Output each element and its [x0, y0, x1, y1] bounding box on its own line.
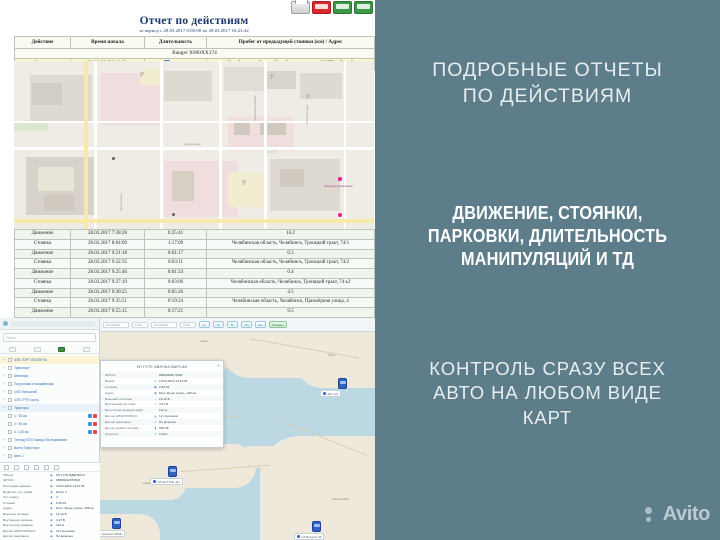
search-input[interactable]: Поиск	[3, 333, 96, 342]
tree-item[interactable]: +Транспорт	[0, 364, 99, 372]
marker-dot-icon	[323, 392, 326, 395]
info-row: Последние данные◆19.03.2018 14:13:30	[0, 483, 100, 489]
info-value: 112 м	[56, 523, 97, 527]
tree-item-label: Техпод ООО Завод Обслуживание	[14, 438, 67, 442]
parking-marker-icon: P	[242, 179, 246, 187]
city-map-image[interactable]: P P P P Городская поликлиника улица Ельк…	[14, 61, 374, 229]
cell-detail: Челябинская область, Челябинск, Троицкий…	[207, 278, 375, 288]
info-key: Последние данные	[3, 484, 47, 488]
date-from-field[interactable]: 19.03.2018	[103, 322, 129, 328]
column-header-action: Действие	[15, 37, 71, 49]
map-toolbar[interactable]: 19.03.2018 14:10 19.03.2018 23:59 1ч 3ч …	[100, 318, 375, 332]
promo-headline-1: ПОДРОБНЫЕ ОТЧЕТЫ ПО ДЕЙСТВИЯМ	[375, 58, 720, 109]
popup-value: Респ.Крым, Керчь, 108 км	[159, 391, 219, 395]
table-row[interactable]: Движение28.03.2017 9:25:460:01:330.4	[15, 269, 375, 279]
info-row: Датчик зажигания◆Не включен	[0, 534, 100, 540]
info-value: 86880022870002	[56, 478, 97, 482]
poi-marker-icon[interactable]	[112, 157, 115, 160]
popup-value: 680.28	[159, 426, 219, 430]
cell-start: 28.03.2017 9:22:35	[71, 259, 145, 269]
info-icon: ◆	[49, 506, 54, 510]
info-value: 12 спутников	[56, 529, 97, 533]
checkbox[interactable]	[8, 438, 12, 442]
chevron-right-icon[interactable]: +	[2, 454, 6, 458]
info-key: Объект	[3, 473, 47, 477]
report-table-body: Движение28.03.2017 7:38:280:25:4116.2Сто…	[14, 229, 375, 318]
status-badge-blue[interactable]	[88, 414, 92, 418]
table-row[interactable]: Движение28.03.2017 9:30:250:05:264.5	[15, 288, 375, 298]
vehicle-marker-icon[interactable]	[338, 378, 347, 389]
cell-detail: 9.5	[207, 308, 375, 318]
cell-duration: 0:01:17	[145, 249, 207, 259]
chevron-right-icon[interactable]: +	[2, 382, 6, 386]
info-key: Гос. номер	[3, 495, 47, 499]
checkbox[interactable]	[8, 374, 12, 378]
popup-key: Высота над уровнем моря	[105, 408, 152, 412]
cell-duration: 0:03:06	[145, 278, 207, 288]
range-12h-button[interactable]: 12ч	[241, 321, 252, 328]
info-icon: ◆	[49, 529, 54, 533]
popup-row-icon: ⌁	[152, 402, 159, 406]
chevron-right-icon[interactable]: +	[2, 374, 6, 378]
cell-duration: 1:17:09	[145, 239, 207, 249]
report-subtitle: за период с 28.03.2017 0:00:00 по 28.03.…	[14, 27, 374, 33]
tree-item[interactable]: +Техпод ООО Завод Обслуживание	[0, 436, 99, 444]
parking-marker-icon: P	[306, 93, 310, 101]
info-key: Внешнее питание	[3, 512, 47, 516]
cell-duration: 0:01:33	[145, 269, 207, 279]
vehicle-marker-icon[interactable]	[112, 518, 121, 529]
info-row: Высота над уровнем◆112 м	[0, 522, 100, 528]
cell-action: Движение	[15, 269, 71, 279]
logo-icon	[3, 321, 8, 326]
cell-start: 28.03.2017 9:35:51	[71, 298, 145, 308]
report-title: Отчет по действиям	[14, 0, 374, 27]
tree-item[interactable]: 2 / 40 км	[0, 420, 99, 428]
info-row: Гос. номер◆4	[0, 494, 100, 500]
cell-action: Движение	[15, 308, 71, 318]
popup-row-icon: »	[152, 432, 159, 436]
info-key: Высота над уровнем	[3, 523, 47, 527]
tree-item-label: Тракторы	[14, 406, 29, 410]
vehicle-marker-label[interactable]: СЛ КН ГУТЕ -АН	[150, 478, 183, 485]
checkbox[interactable]	[8, 430, 12, 434]
info-icon: ◆	[49, 534, 54, 538]
info-icon: ◆	[49, 495, 54, 499]
cell-action: Стоянка	[15, 259, 71, 269]
tree-item[interactable]: 1 / 10 км	[0, 412, 99, 420]
info-row: Стоянка◆0:30:01	[0, 500, 100, 506]
cell-action: Стоянка	[15, 278, 71, 288]
tree-item[interactable]: +Вахта Транспорт	[0, 444, 99, 452]
info-key: Датчик GPS/ГЛОНАСС	[3, 529, 47, 533]
table-row[interactable]: Движение28.03.2017 9:21:180:01:170.3	[15, 249, 375, 259]
tree-item[interactable]: +ЧЛБ ГРУЗ часть	[0, 396, 99, 404]
info-value: Driver 1	[56, 490, 97, 494]
popup-value: 19.03.2018 14:13:30	[159, 379, 219, 383]
range-24h-button[interactable]: 24ч	[255, 321, 266, 328]
object-info-panel: Объект◆КН ГУТЕ ВДЕНКА Б.GPS ID◆868800228…	[0, 462, 100, 540]
chevron-right-icon[interactable]: +	[2, 390, 6, 394]
tree-item[interactable]: 3 / 115 км	[0, 428, 99, 436]
range-6h-button[interactable]: 6ч	[227, 321, 238, 328]
chevron-right-icon[interactable]: +	[2, 406, 6, 410]
street-label: Свердловский проспект	[254, 95, 257, 121]
info-value: 12.12 В	[56, 512, 97, 516]
cell-action: Движение	[15, 230, 71, 240]
checkbox[interactable]	[8, 382, 12, 386]
popup-value: 112 м	[159, 408, 219, 412]
info-key: Водитель, кто управ.	[3, 490, 47, 494]
tree-item-label: 2 / 40 км	[14, 422, 27, 426]
marker-dot-icon	[297, 535, 300, 538]
cell-detail: 0.4	[207, 269, 375, 279]
info-icon: ◆	[49, 473, 54, 477]
gear-icon[interactable]	[44, 465, 49, 470]
tree-item-label: ООО Автоснаб	[14, 390, 37, 394]
chevron-right-icon[interactable]: +	[2, 366, 6, 370]
promo-headline-3-line-1: КОНТРОЛЬ СРАЗУ ВСЕХ	[375, 357, 720, 381]
marker-dot-icon	[153, 480, 156, 483]
avito-watermark: Avito	[645, 503, 710, 526]
cell-duration: 0:17:21	[145, 308, 207, 318]
popup-row-icon: ▮	[152, 426, 159, 430]
tree-item-label: Погрузчики и экскаваторы	[14, 382, 54, 386]
route-icon[interactable]	[4, 465, 9, 470]
town-label: Керчь	[328, 354, 335, 357]
avito-logo-icon	[645, 506, 659, 524]
info-value: 19.03.2018 14:13:30	[56, 484, 97, 488]
tree-item[interactable]: +Погрузчики и экскаваторы	[0, 380, 99, 388]
sidebar-topbar	[0, 318, 99, 330]
stop-icon[interactable]	[14, 465, 19, 470]
tree-item-label: ЧЛБ ТОРГ ОБЪЕКТЫ	[14, 358, 47, 362]
sidebar-title-bar	[11, 321, 96, 327]
tree-item[interactable]: +ООО Автоснаб	[0, 388, 99, 396]
cell-start: 28.03.2017 9:21:18	[71, 249, 145, 259]
pencil-icon[interactable]	[54, 465, 59, 470]
popup-key: Внутренний источник	[105, 402, 152, 406]
popup-key: Датчик зажигания	[105, 420, 152, 424]
info-row: Водитель, кто управ.◆Driver 1	[0, 489, 100, 495]
tree-item-label: ЧЛБ ГРУЗ часть	[14, 398, 39, 402]
popup-key: Внешний источник	[105, 397, 152, 401]
popup-row: Скорость»0 км/ч	[101, 431, 223, 437]
tree-item[interactable]: +Авто 1	[0, 452, 99, 460]
cell-start: 28.03.2017 9:25:46	[71, 269, 145, 279]
popup-key: Скорость	[105, 432, 152, 436]
popup-row-icon: ◉	[152, 391, 159, 395]
info-key: Датчик зажигания	[3, 534, 47, 538]
popup-value: 0:30:01	[159, 385, 219, 389]
vehicle-group-row: Ranger X000XX174	[15, 49, 375, 59]
info-key: Стоянка	[3, 501, 47, 505]
town-label: Анапа	[200, 340, 207, 343]
vehicle-marker-label[interactable]: Аурелия 01018	[100, 530, 125, 537]
tree-item[interactable]: +Автопарк	[0, 372, 99, 380]
info-value: КН ГУТЕ ВДЕНКА Б.	[56, 473, 97, 477]
popup-key: Адрес	[105, 391, 152, 395]
chevron-right-icon[interactable]: +	[2, 398, 6, 402]
cell-start: 28.03.2017 9:27:19	[71, 278, 145, 288]
popup-value: 12 спутников	[159, 414, 219, 418]
info-key: GPS ID	[3, 478, 47, 482]
tree-item[interactable]: +ЧЛБ ТОРГ ОБЪЕКТЫ	[0, 356, 99, 364]
info-row: Внутреннее питание◆4.07 В	[0, 517, 100, 523]
table-header-row: Действие Время начала Длительность Пробе…	[15, 37, 375, 49]
table-row[interactable]: Стоянка28.03.2017 9:22:350:03:11Челябинс…	[15, 259, 375, 269]
table-row[interactable]: Стоянка28.03.2017 9:35:510:19:24Челябинс…	[15, 298, 375, 308]
status-badge-red[interactable]	[93, 422, 97, 426]
sidebar-tab-objects[interactable]	[9, 347, 16, 352]
tree-item-badges[interactable]	[88, 430, 99, 434]
popup-value: 4.07 В	[159, 402, 219, 406]
promo-headline-3-line-2: АВТО НА ЛЮБОМ ВИДЕ	[375, 381, 720, 405]
poi-label: Городская поликлиника	[324, 185, 352, 188]
poi-marker-icon[interactable]	[338, 177, 342, 181]
promo-headline-3: КОНТРОЛЬ СРАЗУ ВСЕХ АВТО НА ЛЮБОМ ВИДЕ К…	[375, 357, 720, 430]
popup-key: Стоянка	[105, 385, 152, 389]
info-value: Не включен	[56, 534, 97, 538]
promo-panel: ПОДРОБНЫЕ ОТЧЕТЫ ПО ДЕЙСТВИЯМ ДВИЖЕНИЕ, …	[375, 0, 720, 540]
popup-key: GPS ID	[105, 373, 152, 377]
info-key: Внутреннее питание	[3, 518, 47, 522]
tree-item-label: Авто 1	[14, 454, 24, 458]
popup-value: 12.12 В	[159, 397, 219, 401]
vehicle-marker-label[interactable]: СЛ Басурин 43	[294, 533, 324, 540]
sidebar-tab-online[interactable]	[58, 347, 65, 352]
show-track-button[interactable]: Показать	[269, 321, 287, 328]
info-icon: ◆	[49, 478, 54, 482]
tree-item[interactable]: +Тракторы	[0, 404, 99, 412]
app-map-canvas[interactable]: Симферополь Керчь Новороссийск Анапа 19.…	[100, 318, 375, 540]
poi-marker-icon[interactable]	[338, 213, 342, 217]
checkbox[interactable]	[8, 398, 12, 402]
info-value: 4.07 В	[56, 518, 97, 522]
street-label: Российская улица	[306, 105, 309, 125]
popup-row-icon: ⦿	[152, 414, 159, 419]
table-row[interactable]: Стоянка28.03.2017 9:27:190:03:06Челябинс…	[15, 278, 375, 288]
street-label: улица Елькина	[184, 143, 201, 146]
popup-row-icon: ◼	[152, 385, 159, 389]
status-badge-blue[interactable]	[88, 422, 92, 426]
checkbox[interactable]	[8, 406, 12, 410]
info-icon: ◆	[49, 518, 54, 522]
vehicle-name: Ranger X000XX174	[15, 49, 375, 59]
tree-item-label: 1 / 10 км	[14, 414, 27, 418]
chart-icon[interactable]	[34, 465, 39, 470]
checkbox[interactable]	[8, 390, 12, 394]
table-row[interactable]: Движение28.03.2017 9:55:150:17:219.5	[15, 308, 375, 318]
cell-detail: 0.3	[207, 249, 375, 259]
time-to-field[interactable]: 23:59	[180, 322, 196, 328]
popup-value: 0 км/ч	[159, 432, 219, 436]
range-3h-button[interactable]: 3ч	[213, 321, 224, 328]
report-table-body-wrap: Движение28.03.2017 7:38:280:25:4116.2Сто…	[14, 229, 374, 318]
info-value: 4	[56, 495, 97, 499]
info-value: Респ. Крым, Керчь, 108 км	[56, 506, 97, 510]
status-badge-red[interactable]	[93, 414, 97, 418]
promo-headline-3-line-3: КАРТ	[375, 406, 720, 430]
tree-item-label: Автопарк	[14, 374, 28, 378]
info-icon: ◆	[49, 501, 54, 505]
poi-marker-icon[interactable]	[172, 213, 175, 216]
popup-row-icon: ⌁	[152, 397, 159, 401]
tracking-app-window: Поиск +ЧЛБ ТОРГ ОБЪЕКТЫ+Транспорт+Автопа…	[0, 318, 375, 540]
object-detail-popup[interactable]: ✕ КН ГУТЕ АВЕНКА ВАРСАН GPS ID868002287-…	[100, 360, 224, 448]
cell-action: Движение	[15, 249, 71, 259]
table-row[interactable]: Стоянка28.03.2017 8:04:091:17:09Челябинс…	[15, 239, 375, 249]
date-to-field[interactable]: 19.03.2018	[151, 322, 177, 328]
object-info-toolbar[interactable]	[0, 463, 100, 472]
promo-headline-2-line-2: ПАРКОВКИ, ДЛИТЕЛЬНОСТЬ	[396, 225, 700, 248]
sidebar-tabs[interactable]	[0, 345, 99, 354]
time-from-field[interactable]: 14:10	[132, 322, 148, 328]
popup-row-icon: ◷	[152, 379, 159, 383]
popup-row-icon: ✓	[152, 420, 159, 424]
tree-item-label: 3 / 115 км	[14, 430, 28, 434]
cell-detail: 4.5	[207, 288, 375, 298]
info-row: GPS ID◆86880022870002	[0, 478, 100, 484]
column-header-start-time: Время начала	[71, 37, 145, 49]
info-row: Адрес◆Респ. Крым, Керчь, 108 км	[0, 506, 100, 512]
tree-item-badges[interactable]	[88, 422, 99, 426]
town-label: Новороссийск	[332, 498, 349, 501]
checkbox[interactable]	[8, 358, 12, 362]
cell-action: Стоянка	[15, 239, 71, 249]
cell-start: 28.03.2017 7:38:28	[71, 230, 145, 240]
parking-marker-icon: P	[270, 73, 274, 81]
promo-headline-1-line-1: ПОДРОБНЫЕ ОТЧЕТЫ	[375, 58, 720, 84]
parking-marker-icon: P	[140, 71, 144, 79]
chevron-right-icon[interactable]: +	[2, 438, 6, 442]
tree-item-label: Вахта Транспорт	[14, 446, 40, 450]
info-icon: ◆	[49, 490, 54, 494]
info-key: Адрес	[3, 506, 47, 510]
vehicle-marker-label[interactable]: Авто-10	[320, 390, 341, 397]
checkbox[interactable]	[8, 454, 12, 458]
info-row: Внешнее питание◆12.12 В	[0, 511, 100, 517]
tree-item-badges[interactable]	[88, 414, 99, 418]
chevron-right-icon[interactable]: +	[2, 446, 6, 450]
vehicle-marker-icon[interactable]	[312, 521, 321, 532]
vehicle-marker-icon[interactable]	[168, 466, 177, 477]
popup-key: Датчик уровня топлива	[105, 426, 152, 430]
cell-detail: Челябинская область, Челябинск, Троицкий…	[207, 259, 375, 269]
sidebar-tab-geo[interactable]	[83, 347, 90, 352]
popup-value: Не включен	[159, 420, 219, 424]
street-label: улица Энгельса	[120, 193, 123, 211]
checkbox[interactable]	[8, 446, 12, 450]
popup-key: Датчик GPS/ГЛОНАСС	[105, 414, 152, 418]
table-row[interactable]: Движение28.03.2017 7:38:280:25:4116.2	[15, 230, 375, 240]
chevron-right-icon[interactable]: +	[2, 358, 6, 362]
screenshot-root: Отчет по действиям за период с 28.03.201…	[0, 0, 720, 540]
info-row: Датчик GPS/ГЛОНАСС◆12 спутников	[0, 528, 100, 534]
cell-detail: Челябинская область, Челябинск, Приозёрн…	[207, 298, 375, 308]
cell-start: 28.03.2017 9:55:15	[71, 308, 145, 318]
cell-duration: 0:19:24	[145, 298, 207, 308]
cell-action: Движение	[15, 288, 71, 298]
close-icon[interactable]: ✕	[217, 363, 220, 368]
cell-action: Стоянка	[15, 298, 71, 308]
time-icon[interactable]	[24, 465, 29, 470]
info-value: 0:30:01	[56, 501, 97, 505]
cell-detail: Челябинская область, Челябинск, Троицкий…	[207, 239, 375, 249]
range-1h-button[interactable]: 1ч	[199, 321, 210, 328]
popup-title: КН ГУТЕ АВЕНКА ВАРСАН	[101, 361, 223, 372]
popup-key: Время	[105, 379, 152, 383]
promo-headline-2-line-3: МАНИПУЛЯЦИЙ И ТД	[396, 248, 700, 271]
column-header-distance-address: Пробег от предыдущей стоянки (км) / Адре…	[207, 37, 375, 49]
checkbox[interactable]	[8, 414, 12, 418]
cell-start: 28.03.2017 9:30:25	[71, 288, 145, 298]
cell-detail: 16.2	[207, 230, 375, 240]
avito-wordmark: Avito	[663, 503, 710, 526]
tree-item-label: Транспорт	[14, 366, 30, 370]
column-header-duration: Длительность	[145, 37, 207, 49]
status-badge-blue[interactable]	[88, 430, 92, 434]
sidebar-tab-groups[interactable]	[34, 347, 41, 352]
checkbox[interactable]	[8, 422, 12, 426]
popup-value: 868002287-0002	[159, 373, 219, 377]
info-icon: ◆	[49, 523, 54, 527]
promo-headline-2-line-1: ДВИЖЕНИЕ, СТОЯНКИ,	[396, 202, 700, 225]
promo-headline-1-line-2: ПО ДЕЙСТВИЯМ	[375, 84, 720, 110]
promo-headline-2: ДВИЖЕНИЕ, СТОЯНКИ, ПАРКОВКИ, ДЛИТЕЛЬНОСТ…	[396, 202, 700, 271]
cell-duration: 0:05:26	[145, 288, 207, 298]
checkbox[interactable]	[8, 366, 12, 370]
info-icon: ◆	[49, 484, 54, 488]
info-row: Объект◆КН ГУТЕ ВДЕНКА Б.	[0, 472, 100, 478]
status-badge-red[interactable]	[93, 430, 97, 434]
cell-start: 28.03.2017 8:04:09	[71, 239, 145, 249]
cell-duration: 0:25:41	[145, 230, 207, 240]
search-placeholder: Поиск	[6, 336, 15, 340]
info-icon: ◆	[49, 512, 54, 516]
cell-duration: 0:03:11	[145, 259, 207, 269]
